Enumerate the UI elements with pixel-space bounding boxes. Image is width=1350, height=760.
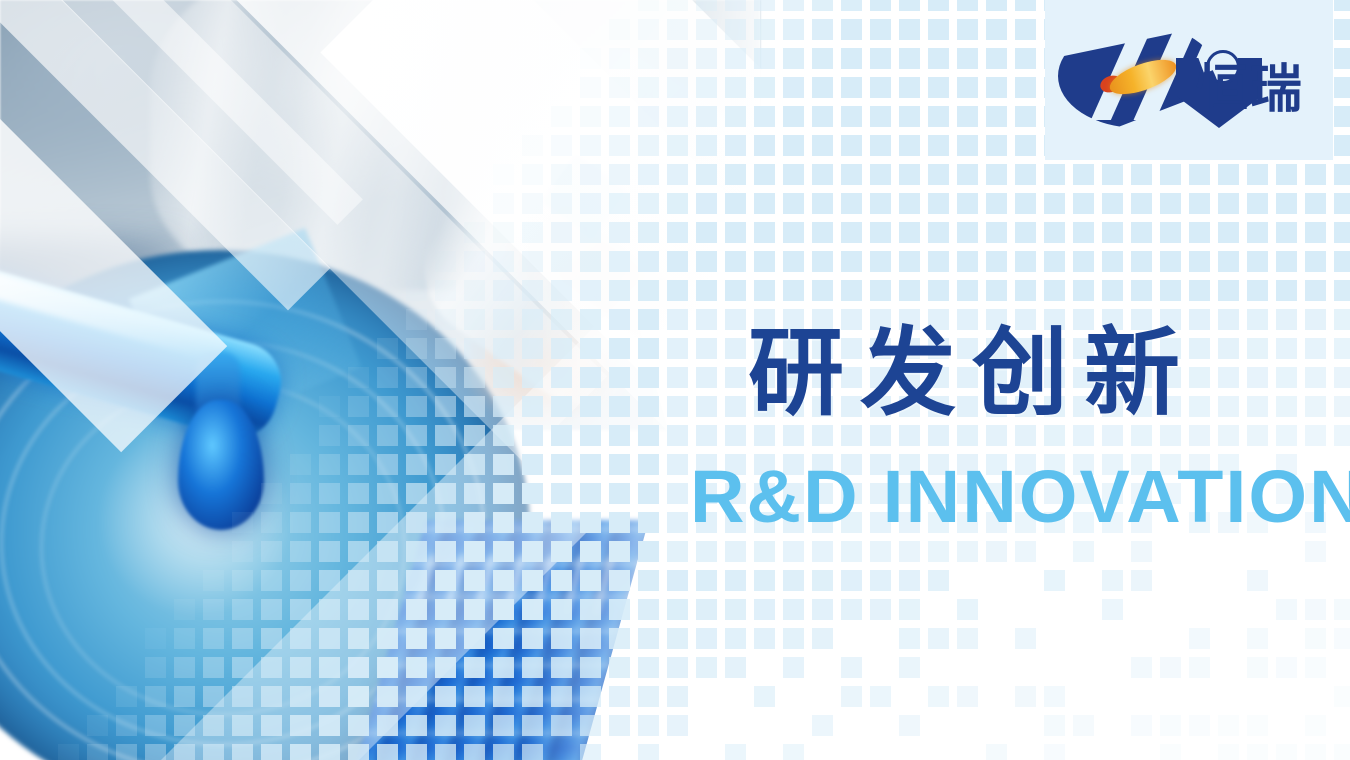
rd-innovation-banner: 研发创新 R&D INNOVATION 恒瑞 [0,0,1350,760]
page-title-chinese: 研发创新 [748,325,1196,421]
page-title-english: R&D INNOVATION [690,460,1350,534]
logo-brand-text: 恒瑞 [1196,64,1304,116]
hengrui-logo-icon [1058,14,1218,132]
